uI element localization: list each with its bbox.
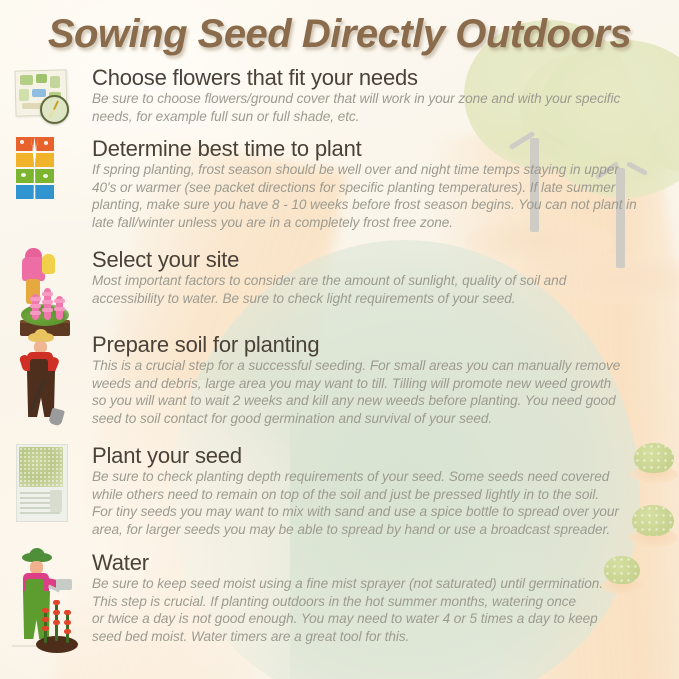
step-select-site: Select your site Most important factors … (12, 248, 672, 336)
step-icon-container (12, 551, 70, 653)
compass-icon (40, 95, 69, 124)
step-heading: Plant your seed (92, 444, 672, 467)
step-body-line: while others need to remain on top of th… (92, 486, 672, 504)
plan-plot (20, 75, 33, 85)
step-body-line: Be sure to choose flowers/ground cover t… (92, 90, 672, 108)
step-body-line: accessibility to water. Be sure to check… (92, 290, 672, 308)
flower-stem (66, 611, 69, 643)
four-seasons-tree-icon (12, 137, 58, 201)
plan-plot (32, 89, 46, 97)
flower-bundle (42, 254, 55, 274)
step-body-line: planting, make sure you have 8 - 10 week… (92, 196, 672, 214)
step-body-line: Most important factors to consider are t… (92, 272, 672, 290)
gardener-watering-icon (12, 551, 76, 653)
step-text: Select your site Most important factors … (70, 248, 672, 307)
plan-plot (50, 76, 60, 88)
step-body-line: For tiny seeds you may want to mix with … (92, 503, 672, 521)
step-body-line: If spring planting, frost season should … (92, 161, 672, 179)
step-heading: Water (92, 551, 672, 574)
step-body-line: 40's or warmer (see packet directions fo… (92, 179, 672, 197)
step-text: Determine best time to plant If spring p… (70, 137, 672, 232)
step-body-line: Be sure to keep seed moist using a fine … (92, 575, 672, 593)
flower-bud (53, 620, 60, 625)
step-icon-container (12, 66, 70, 124)
infographic-poster: Sowing Seed Directly Outdoors (0, 0, 679, 679)
flower-spike (56, 296, 63, 320)
step-body-line: weeds and debris, large area you may wan… (92, 375, 676, 393)
step-water: Water Be sure to keep seed moist using a… (12, 551, 672, 653)
compass-needle (49, 100, 59, 118)
step-icon-container (16, 333, 74, 429)
step-icon-container (12, 444, 70, 522)
season-dot (21, 173, 26, 177)
page-title: Sowing Seed Directly Outdoors (0, 12, 679, 57)
flower-planter-gardener-icon (12, 248, 74, 336)
steps-list: Choose flowers that fit your needs Be su… (0, 0, 679, 679)
step-body: This is a crucial step for a successful … (92, 357, 676, 428)
step-body: Be sure to keep seed moist using a fine … (92, 575, 672, 646)
packet-text-line (20, 512, 60, 514)
plan-plot (36, 74, 47, 83)
step-heading: Choose flowers that fit your needs (92, 66, 672, 89)
step-body-line: Be sure to check planting depth requirem… (92, 468, 672, 486)
flower-bud (64, 610, 71, 615)
step-icon-container (12, 248, 70, 336)
step-text: Prepare soil for planting This is a cruc… (74, 333, 676, 428)
flower-spike (32, 294, 39, 320)
shovel-blade (48, 408, 65, 427)
gardener-with-shovel-icon (16, 333, 74, 429)
flower-bud (53, 600, 60, 605)
seed-packet-icon (12, 444, 70, 522)
flower-bud (64, 629, 71, 634)
packet-tool (50, 490, 62, 512)
season-dot (44, 141, 48, 145)
step-body: Be sure to choose flowers/ground cover t… (92, 90, 672, 125)
flower-bud (42, 608, 49, 613)
step-body-line: This is a crucial step for a successful … (92, 357, 676, 375)
step-heading: Prepare soil for planting (92, 333, 676, 356)
step-body: Be sure to check planting depth requirem… (92, 468, 672, 539)
step-body-line: needs, for example full sun or full shad… (92, 108, 672, 126)
step-plant-seed: Plant your seed Be sure to check plantin… (12, 444, 672, 539)
step-body-line: area, for larger seeds you may be able t… (92, 521, 672, 539)
plan-plot (19, 89, 29, 101)
step-determine-time: Determine best time to plant If spring p… (12, 137, 672, 232)
step-heading: Determine best time to plant (92, 137, 672, 160)
packet-seed-texture (19, 447, 63, 487)
step-text: Choose flowers that fit your needs Be su… (70, 66, 672, 125)
step-body: Most important factors to consider are t… (92, 272, 672, 307)
season-dot (43, 174, 48, 178)
step-icon-container (12, 137, 70, 201)
step-body-line: seed bed moist. Water timers are a great… (92, 628, 672, 646)
step-text: Plant your seed Be sure to check plantin… (70, 444, 672, 539)
flower-spike (44, 288, 51, 320)
flower-bud (53, 610, 60, 615)
step-body-line: This step is crucial. If planting outdoo… (92, 593, 672, 611)
step-heading: Select your site (92, 248, 672, 271)
flower-bud (42, 626, 49, 631)
step-body-line: so you will want to wait 2 weeks and kil… (92, 392, 676, 410)
flower-bud (64, 620, 71, 625)
step-body-line: late fall/winter unless you are in a com… (92, 214, 672, 232)
garden-plan-compass-icon (12, 66, 68, 124)
step-body-line: or twice a day is not good enough. You m… (92, 610, 672, 628)
step-prepare-soil: Prepare soil for planting This is a cruc… (16, 333, 676, 429)
step-body: If spring planting, frost season should … (92, 161, 672, 232)
season-dot (20, 140, 24, 144)
step-choose-flowers: Choose flowers that fit your needs Be su… (12, 66, 672, 125)
flower-bud (42, 617, 49, 622)
step-body-line: seed to soil contact for good germinatio… (92, 410, 676, 428)
step-text: Water Be sure to keep seed moist using a… (70, 551, 672, 646)
